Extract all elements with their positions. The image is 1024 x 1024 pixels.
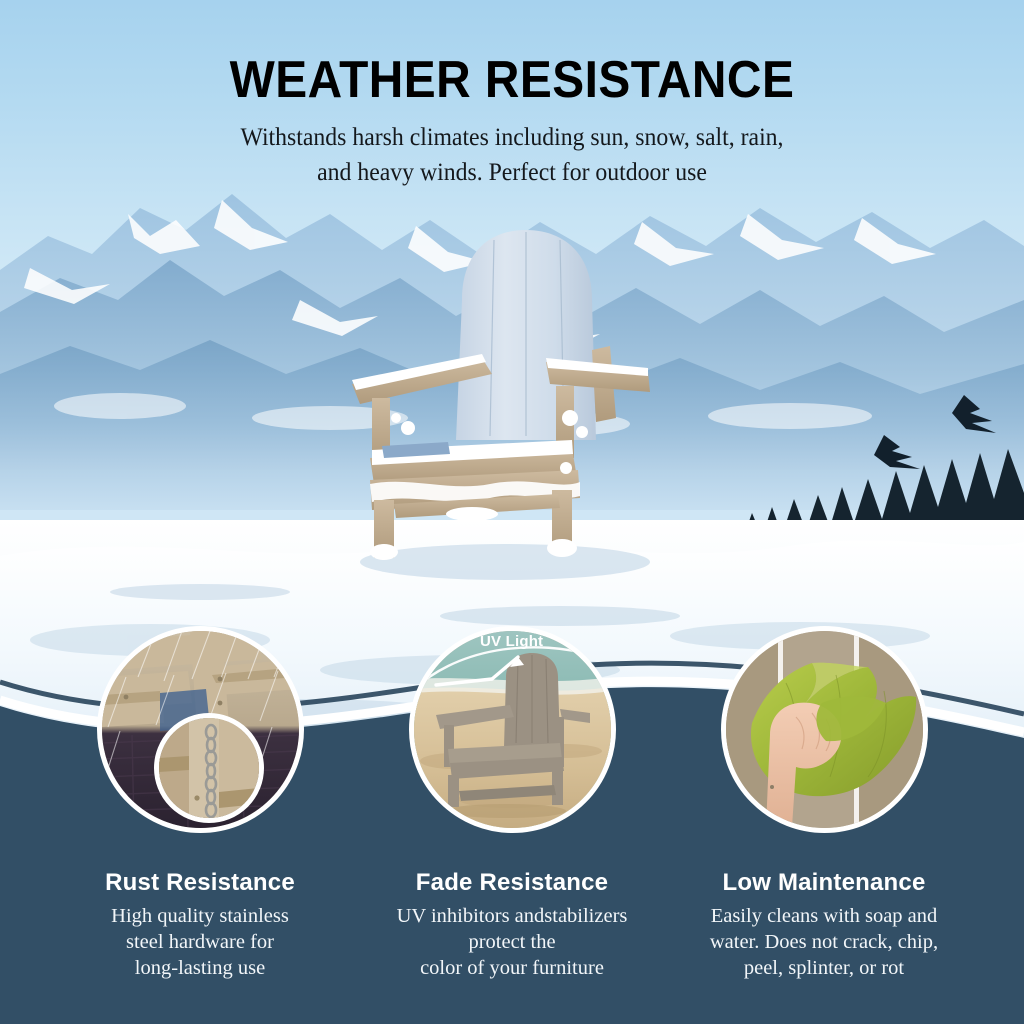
rust-hardware-inset <box>154 713 264 823</box>
feature-title-low-maintenance: Low Maintenance <box>664 869 984 897</box>
feature-title-rust-resistance: Rust Resistance <box>40 869 360 897</box>
page-title: WEATHER RESISTANCE <box>41 50 983 110</box>
subtitle-line-2: and heavy winds. Perfect for outdoor use <box>26 155 999 190</box>
feature-image-fade-resistance[interactable]: UV Light <box>409 626 616 833</box>
feature-body-fade-resistance: UV inhibitors andstabilizers protect the… <box>352 903 672 981</box>
feature-body-low-maintenance: Easily cleans with soap and water. Does … <box>664 903 984 981</box>
snow-covered-adirondack-chair <box>330 222 675 582</box>
page-subtitle: Withstands harsh climates including sun,… <box>26 120 999 190</box>
subtitle-line-1: Withstands harsh climates including sun,… <box>26 120 999 155</box>
feature-image-low-maintenance[interactable] <box>721 626 928 833</box>
weather-resistance-infographic: WEATHER RESISTANCE Withstands harsh clim… <box>0 0 1024 1024</box>
feature-image-rust-resistance[interactable] <box>97 626 304 833</box>
feature-title-fade-resistance: Fade Resistance <box>352 869 672 897</box>
uv-light-label: UV Light <box>480 633 543 650</box>
feature-body-rust-resistance: High quality stainless steel hardware fo… <box>40 903 360 981</box>
